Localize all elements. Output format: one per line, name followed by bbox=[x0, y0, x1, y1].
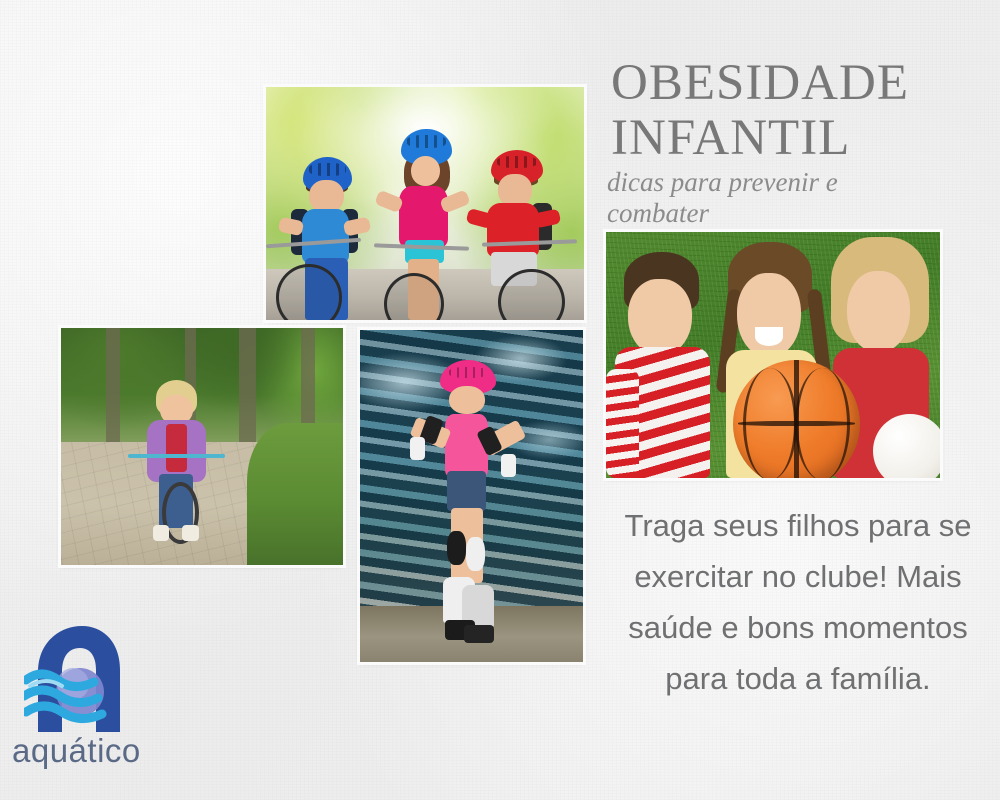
photo-girl-rollerblading bbox=[360, 330, 583, 662]
face bbox=[628, 279, 692, 356]
basketball bbox=[733, 360, 860, 478]
page-subtitle: dicas para prevenir e combater bbox=[607, 167, 937, 229]
handlebar bbox=[482, 239, 577, 246]
ball-seam bbox=[743, 368, 797, 478]
girl-skater bbox=[425, 360, 519, 646]
grass-verge bbox=[247, 423, 343, 565]
handlebar bbox=[266, 237, 361, 248]
balance-bike-handlebar bbox=[128, 454, 225, 458]
tree-trunk bbox=[106, 328, 120, 451]
face bbox=[449, 386, 485, 415]
striped-sleeve bbox=[606, 369, 639, 478]
wrist-guard-left bbox=[410, 437, 425, 460]
bicycles bbox=[266, 87, 584, 320]
poster-canvas: OBESIDADE INFANTIL dicas para prevenir e… bbox=[0, 0, 1000, 800]
aquatico-mark-icon bbox=[24, 620, 129, 735]
skate-wheels-right bbox=[464, 625, 494, 642]
knee-pad-left bbox=[447, 531, 466, 565]
handlebar bbox=[374, 244, 469, 251]
knee-pad-right bbox=[466, 537, 485, 571]
ball-seam bbox=[795, 368, 849, 478]
call-to-action-text: Traga seus filhos para se exercitar no c… bbox=[600, 500, 996, 704]
shoe-left bbox=[153, 525, 169, 541]
page-title-line-1: OBESIDADE bbox=[611, 56, 991, 111]
photo-girl-balance-bike bbox=[61, 328, 343, 565]
bike-wheel bbox=[276, 264, 342, 320]
volleyball bbox=[873, 414, 940, 478]
smile bbox=[755, 327, 784, 346]
brand-logo[interactable]: aquático bbox=[6, 620, 156, 785]
wrist-guard-right bbox=[501, 454, 516, 477]
bike-wheel bbox=[384, 273, 444, 320]
face bbox=[847, 271, 911, 353]
photo-kids-on-bikes bbox=[266, 87, 584, 320]
page-title-line-2: INFANTIL bbox=[611, 111, 991, 166]
tree-trunk bbox=[239, 328, 256, 456]
denim-shorts bbox=[447, 471, 486, 511]
photo-kids-with-ball bbox=[606, 232, 940, 478]
toddler-on-balance-bike bbox=[140, 380, 213, 541]
page-title: OBESIDADE INFANTIL bbox=[611, 56, 991, 166]
brand-wordmark: aquático bbox=[12, 732, 152, 770]
shoe-right bbox=[182, 525, 198, 541]
tree-trunk bbox=[301, 328, 315, 437]
boy-in-striped-shirt bbox=[613, 252, 723, 478]
bike-wheel bbox=[498, 269, 564, 320]
red-strap bbox=[166, 424, 187, 472]
